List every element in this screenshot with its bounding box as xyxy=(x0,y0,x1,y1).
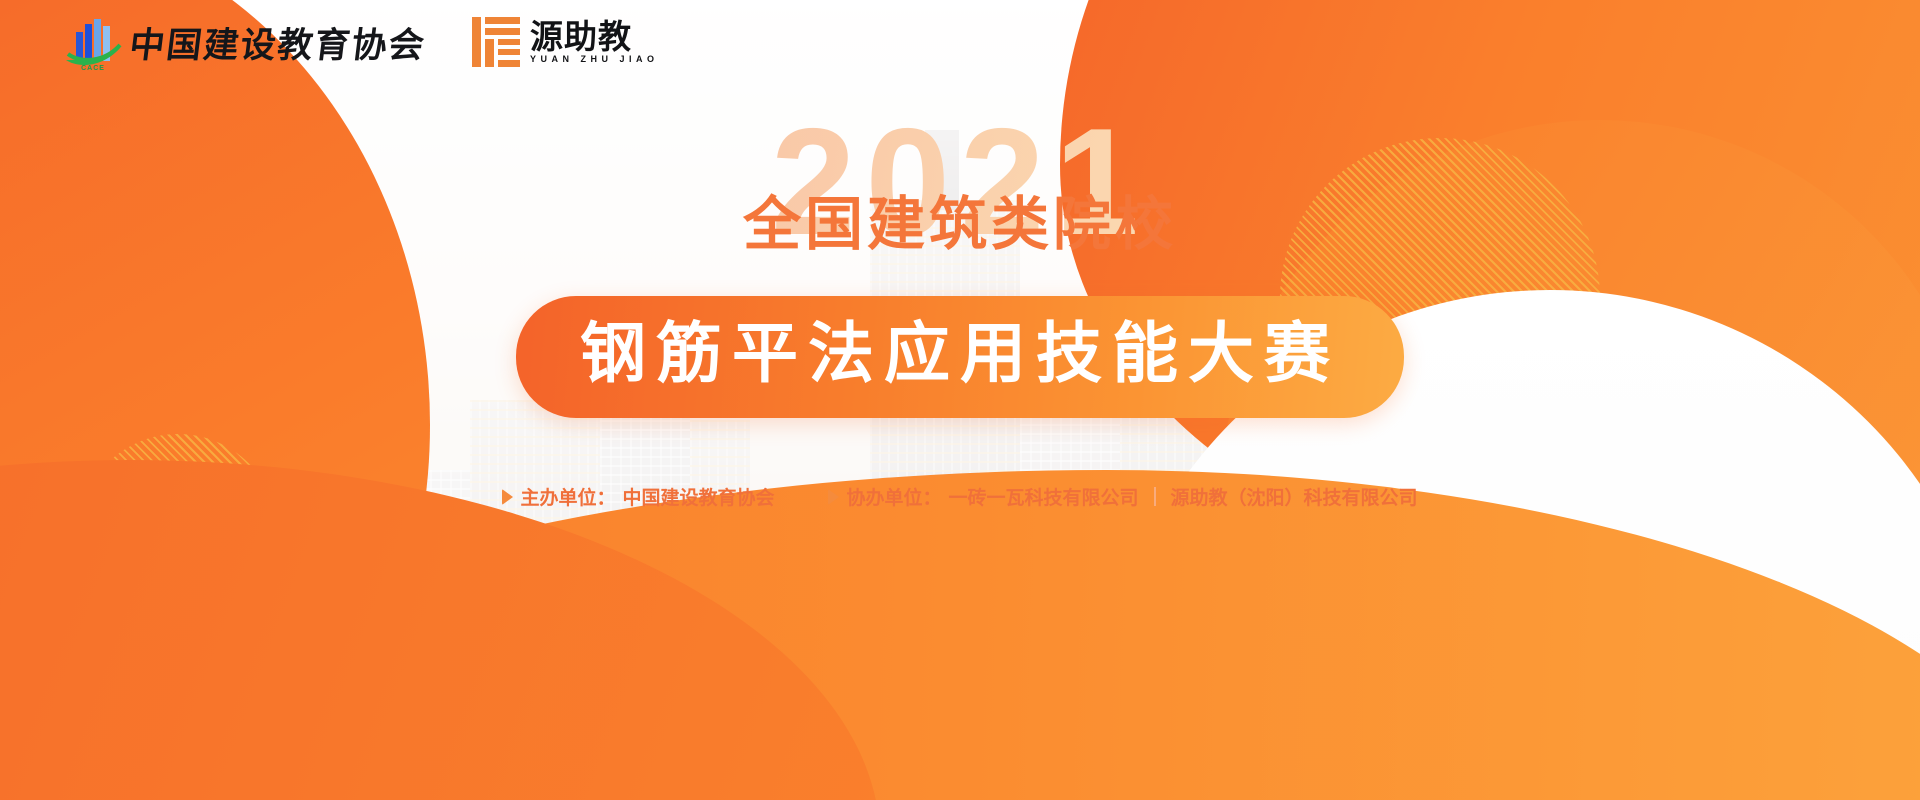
logo-row: CACE 中国建设教育协会 源助教 YUAN ZHU JIAO xyxy=(62,14,659,70)
hero-subtitle: 全国建筑类院校 xyxy=(0,196,1920,254)
cace-logo: CACE 中国建设教育协会 xyxy=(62,14,426,70)
organizer-host-label: 主办单位： xyxy=(520,483,615,510)
page-title: 钢筋平法应用技能大赛 xyxy=(580,316,1340,392)
chevron-right-icon xyxy=(828,489,839,505)
yuanzhujiao-name-en: YUAN ZHU JIAO xyxy=(530,55,659,64)
yuanzhujiao-name-cn: 源助教 xyxy=(530,20,659,53)
organizer-co-value-2: 源助教（沈阳）科技有限公司 xyxy=(1171,483,1418,510)
yuanzhujiao-stripe-logo-icon xyxy=(472,17,520,67)
hero-title-pill: 钢筋平法应用技能大赛 xyxy=(516,296,1404,418)
hero-block: 2021 全国建筑类院校 钢筋平法应用技能大赛 xyxy=(0,128,1920,418)
yzj-mark-svg xyxy=(472,17,520,67)
organizer-coorganizer: 协办单位： 一砖一瓦科技有限公司 源助教（沈阳）科技有限公司 xyxy=(828,483,1417,510)
yuanzhujiao-logo: 源助教 YUAN ZHU JIAO xyxy=(472,17,659,67)
organizer-host-value: 中国建设教育协会 xyxy=(622,483,774,510)
competition-banner: CACE 中国建设教育协会 源助教 YUAN ZHU JIAO xyxy=(0,0,1920,800)
organizer-co-value: 一砖一瓦科技有限公司 xyxy=(949,483,1139,510)
cace-abbreviation: CACE xyxy=(62,65,124,72)
organizer-host: 主办单位： 中国建设教育协会 xyxy=(502,483,774,510)
organizer-divider xyxy=(1154,487,1156,506)
organizer-co-label: 协办单位： xyxy=(846,483,941,510)
chevron-right-icon xyxy=(502,489,513,505)
organizer-line: 主办单位： 中国建设教育协会 协办单位： 一砖一瓦科技有限公司 源助教（沈阳）科… xyxy=(0,483,1920,510)
cace-wordmark: 中国建设教育协会 xyxy=(127,17,429,68)
yuanzhujiao-wordmark: 源助教 YUAN ZHU JIAO xyxy=(530,20,659,64)
cace-mark-svg xyxy=(62,14,124,70)
cace-bar-chart-logo-icon: CACE xyxy=(62,14,124,70)
